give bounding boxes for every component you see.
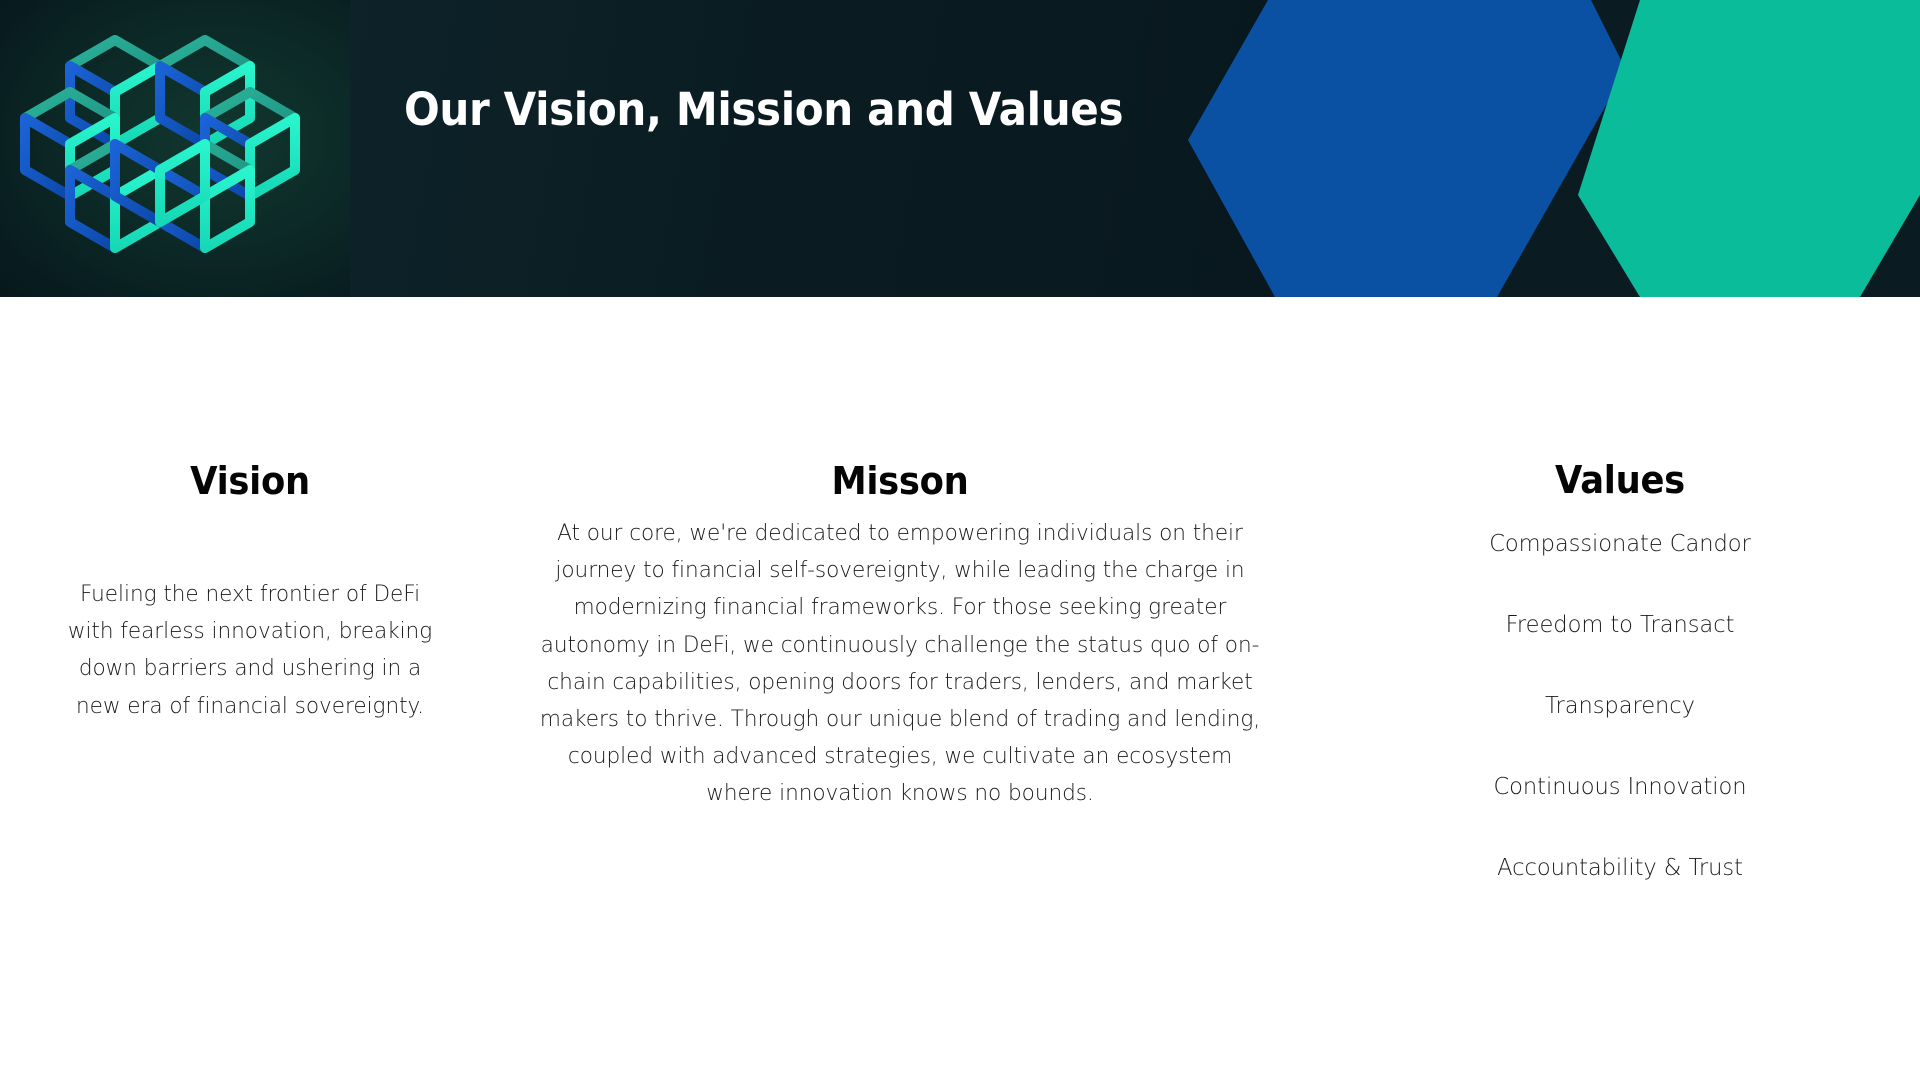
column-body-vision: Fueling the next frontier of DeFi with f… — [48, 576, 451, 725]
column-mission: Misson At our core, we're dedicated to e… — [520, 297, 1280, 813]
values-list-item: Accountability & Trust — [1438, 853, 1803, 882]
column-body-mission: At our core, we're dedicated to empoweri… — [535, 515, 1265, 813]
column-heading-mission: Misson — [547, 459, 1254, 503]
values-list-item: Compassionate Candor — [1438, 529, 1803, 558]
values-list: Compassionate Candor Freedom to Transact… — [1430, 529, 1810, 882]
column-heading-vision: Vision — [55, 459, 446, 503]
values-list-item: Freedom to Transact — [1438, 610, 1803, 639]
content-columns: Vision Fueling the next frontier of DeFi… — [0, 297, 1920, 1080]
column-vision: Vision Fueling the next frontier of DeFi… — [40, 297, 460, 725]
values-list-item: Continuous Innovation — [1438, 772, 1803, 801]
hexagon-blue-shape — [1188, 0, 1626, 297]
header: Our Vision, Mission and Values — [0, 0, 1920, 297]
header-hexagon-decorations — [0, 0, 1920, 297]
hexagon-teal-shape — [1578, 0, 1920, 297]
column-heading-values: Values — [1443, 458, 1796, 502]
values-list-item: Transparency — [1438, 691, 1803, 720]
column-values: Values Compassionate Candor Freedom to T… — [1430, 297, 1810, 898]
slide-root: Our Vision, Mission and Values Vision Fu… — [0, 0, 1920, 1080]
